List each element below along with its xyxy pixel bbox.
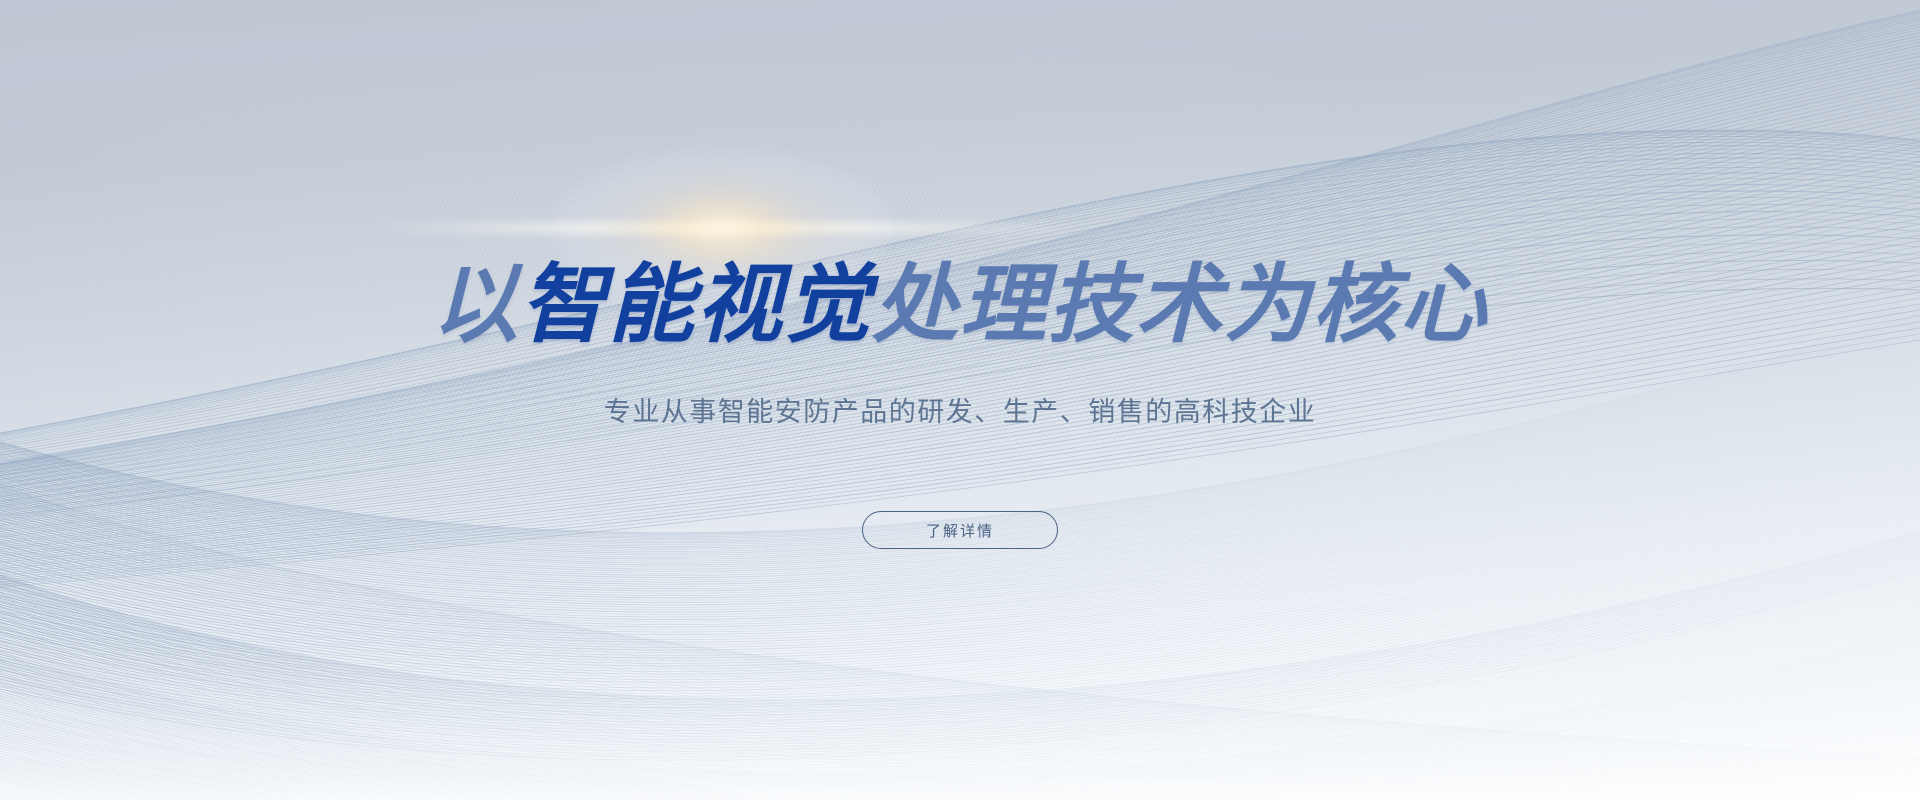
page-title: 以智能视觉处理技术为核心 bbox=[0, 262, 1920, 348]
headline-segment-1: 以 bbox=[432, 257, 520, 353]
page-subtitle: 专业从事智能安防产品的研发、生产、销售的高科技企业 bbox=[0, 394, 1920, 432]
learn-more-button[interactable]: 了解详情 bbox=[862, 511, 1058, 549]
hero-banner: 以智能视觉处理技术为核心 专业从事智能安防产品的研发、生产、销售的高科技企业 了… bbox=[0, 0, 1920, 800]
hero-content: 以智能视觉处理技术为核心 专业从事智能安防产品的研发、生产、销售的高科技企业 了… bbox=[0, 0, 1920, 800]
cta-container: 了解详情 bbox=[0, 511, 1920, 549]
headline-segment-3: 处理技术为核心 bbox=[872, 257, 1488, 353]
headline-segment-2: 智能视觉 bbox=[520, 257, 872, 353]
